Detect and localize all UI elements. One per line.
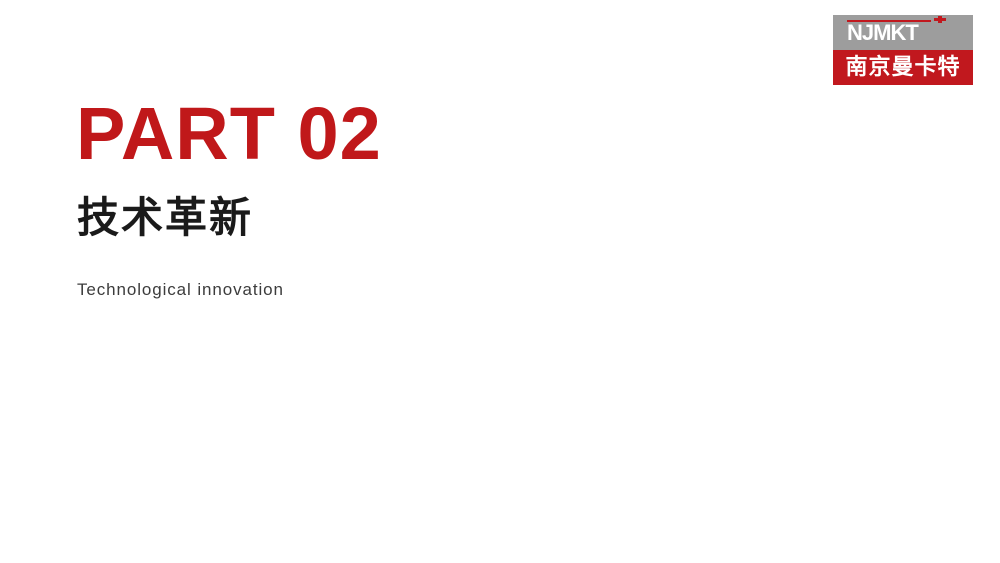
brand-logo: NJMKT 南京曼卡特 [833,15,973,85]
hero-illustration: 科技创新 [440,110,910,455]
part-number-label: PART 02 [76,94,382,174]
section-subtitle-en: Technological innovation [77,279,284,301]
logo-hammer-icon [934,16,946,23]
logo-top-band: NJMKT [833,15,973,50]
section-title-cn: 技术革新 [77,194,253,242]
hero-overlay-text: 科技创新 [498,170,722,233]
logo-bottom-band: 南京曼卡特 [833,50,973,85]
slide-canvas: NJMKT 南京曼卡特 PART 02 技术革新 Technological i… [0,0,1000,563]
svg-text:科技创新: 科技创新 [498,170,722,233]
logo-latin-wordmark: NJMKT [847,22,918,44]
logo-chinese-wordmark: 南京曼卡特 [833,50,973,85]
hero-image: 科技创新 [440,110,910,455]
